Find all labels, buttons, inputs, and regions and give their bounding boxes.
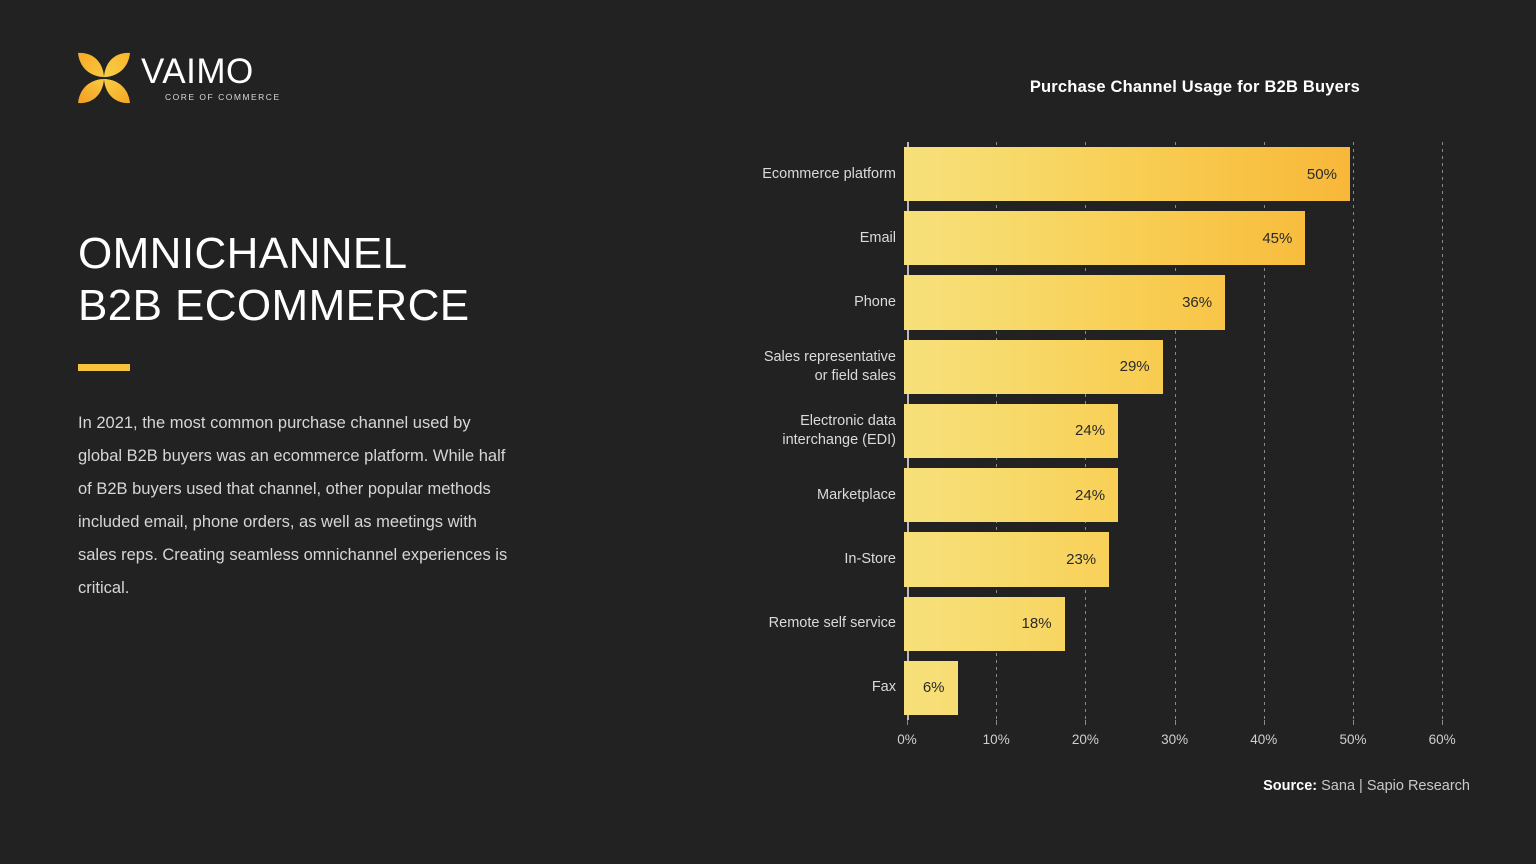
bar-row[interactable]: Phone36% bbox=[740, 275, 1480, 329]
bar[interactable]: 23% bbox=[904, 532, 1109, 586]
x-tick-mark bbox=[907, 720, 908, 725]
bar-value-label: 24% bbox=[1075, 487, 1118, 504]
bar-track: 36% bbox=[902, 275, 1480, 329]
x-tick-mark bbox=[1264, 720, 1265, 725]
x-tick-mark bbox=[1175, 720, 1176, 725]
bar-fill bbox=[904, 147, 1350, 201]
bar-rows: Ecommerce platform50%Email45%Phone36%Sal… bbox=[740, 142, 1480, 720]
brand-name: VAIMO bbox=[141, 54, 254, 89]
bar-category-label: Phone bbox=[740, 293, 902, 312]
bar-track: 29% bbox=[902, 340, 1480, 394]
bar-value-label: 36% bbox=[1182, 294, 1225, 311]
bar[interactable]: 29% bbox=[904, 340, 1163, 394]
page-title: OMNICHANNEL B2B ECOMMERCE bbox=[78, 228, 548, 332]
bar-value-label: 18% bbox=[1022, 615, 1065, 632]
bar-row[interactable]: Fax6% bbox=[740, 661, 1480, 715]
bar[interactable]: 36% bbox=[904, 275, 1225, 329]
x-axis: 0%10%20%30%40%50%60% bbox=[907, 720, 1460, 754]
bar-track: 6% bbox=[902, 661, 1480, 715]
bar-fill bbox=[904, 211, 1305, 265]
bar-track: 24% bbox=[902, 404, 1480, 458]
x-tick-label: 0% bbox=[897, 732, 917, 747]
x-tick-mark bbox=[996, 720, 997, 725]
bar-track: 24% bbox=[902, 468, 1480, 522]
bar[interactable]: 45% bbox=[904, 211, 1305, 265]
bar-row[interactable]: Email45% bbox=[740, 211, 1480, 265]
source-attribution: Source: Sana | Sapio Research bbox=[1263, 778, 1470, 794]
bar[interactable]: 24% bbox=[904, 404, 1118, 458]
bar-category-label: Ecommerce platform bbox=[740, 165, 902, 184]
bar-category-label: Email bbox=[740, 229, 902, 248]
x-tick-label: 40% bbox=[1250, 732, 1277, 747]
bar-track: 50% bbox=[902, 147, 1480, 201]
bar-value-label: 29% bbox=[1120, 358, 1163, 375]
bar-row[interactable]: Electronic data interchange (EDI)24% bbox=[740, 404, 1480, 458]
bar-category-label: Remote self service bbox=[740, 614, 902, 633]
bar-track: 45% bbox=[902, 211, 1480, 265]
x-tick-mark bbox=[1442, 720, 1443, 725]
plot-area: Ecommerce platform50%Email45%Phone36%Sal… bbox=[740, 142, 1480, 722]
bar-chart: Ecommerce platform50%Email45%Phone36%Sal… bbox=[740, 142, 1480, 722]
bar-track: 23% bbox=[902, 532, 1480, 586]
x-tick-label: 20% bbox=[1072, 732, 1099, 747]
x-tick-mark bbox=[1353, 720, 1354, 725]
chart-title: Purchase Channel Usage for B2B Buyers bbox=[1030, 78, 1360, 97]
bar-category-label: Marketplace bbox=[740, 486, 902, 505]
x-tick-label: 30% bbox=[1161, 732, 1188, 747]
bar-category-label: Sales representative or field sales bbox=[740, 348, 902, 386]
x-tick-label: 60% bbox=[1429, 732, 1456, 747]
bar[interactable]: 18% bbox=[904, 597, 1065, 651]
bar-row[interactable]: Remote self service18% bbox=[740, 597, 1480, 651]
vaimo-wordmark: VAIMO CORE OF COMMERCE bbox=[141, 54, 281, 102]
vaimo-x-mark-icon bbox=[76, 49, 132, 107]
bar[interactable]: 24% bbox=[904, 468, 1118, 522]
bar-row[interactable]: Marketplace24% bbox=[740, 468, 1480, 522]
bar-category-label: Fax bbox=[740, 678, 902, 697]
bar-category-label: Electronic data interchange (EDI) bbox=[740, 412, 902, 450]
accent-underline bbox=[78, 364, 130, 371]
bar[interactable]: 6% bbox=[904, 661, 958, 715]
bar-value-label: 6% bbox=[923, 679, 958, 696]
bar-row[interactable]: Ecommerce platform50% bbox=[740, 147, 1480, 201]
x-tick-mark bbox=[1085, 720, 1086, 725]
bar-fill bbox=[904, 275, 1225, 329]
source-label: Source: bbox=[1263, 778, 1317, 794]
bar-value-label: 45% bbox=[1262, 230, 1305, 247]
bar-value-label: 50% bbox=[1307, 166, 1350, 183]
x-tick-label: 10% bbox=[983, 732, 1010, 747]
bar-category-label: In-Store bbox=[740, 550, 902, 569]
source-text: Sana | Sapio Research bbox=[1321, 778, 1470, 794]
brand-tagline: CORE OF COMMERCE bbox=[165, 92, 281, 102]
intro-paragraph: In 2021, the most common purchase channe… bbox=[78, 407, 518, 605]
bar-track: 18% bbox=[902, 597, 1480, 651]
vaimo-logo: VAIMO CORE OF COMMERCE bbox=[76, 46, 326, 110]
bar-row[interactable]: Sales representative or field sales29% bbox=[740, 340, 1480, 394]
bar[interactable]: 50% bbox=[904, 147, 1350, 201]
bar-value-label: 24% bbox=[1075, 422, 1118, 439]
intro-panel: OMNICHANNEL B2B ECOMMERCE In 2021, the m… bbox=[78, 228, 548, 605]
x-tick-label: 50% bbox=[1339, 732, 1366, 747]
bar-row[interactable]: In-Store23% bbox=[740, 532, 1480, 586]
bar-value-label: 23% bbox=[1066, 551, 1109, 568]
